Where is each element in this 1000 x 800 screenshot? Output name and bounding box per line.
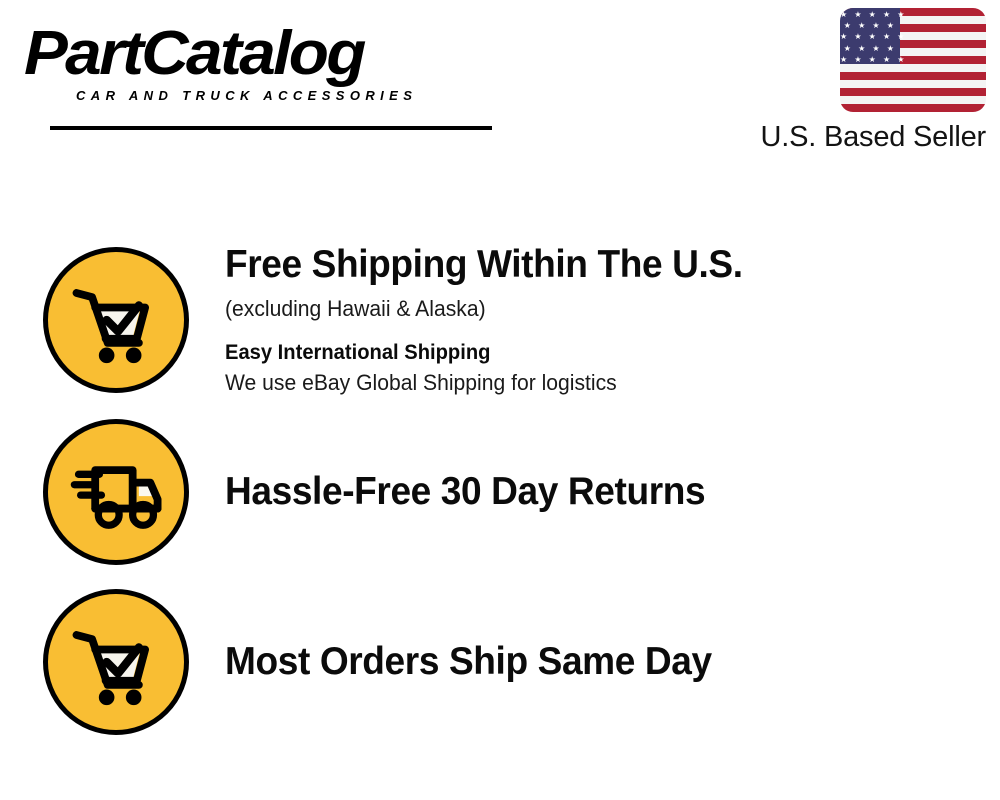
- brand-underline-rule: [50, 126, 492, 130]
- brand-tagline: CAR AND TRUCK ACCESSORIES: [76, 88, 494, 103]
- shopping-cart-check-icon: [43, 247, 189, 393]
- feature-heading: Hassle-Free 30 Day Returns: [225, 469, 942, 515]
- feature-note-ebay-global-shipping: We use eBay Global Shipping for logistic…: [225, 368, 950, 397]
- brand-logo[interactable]: PartCatalog CAR AND TRUCK ACCESSORIES: [24, 22, 494, 103]
- promo-banner: PartCatalog CAR AND TRUCK ACCESSORIES ★ …: [0, 0, 1000, 800]
- delivery-truck-icon: [43, 419, 189, 565]
- banner-header: PartCatalog CAR AND TRUCK ACCESSORIES ★ …: [0, 0, 1000, 170]
- feature-text-returns: Hassle-Free 30 Day Returns: [225, 469, 1000, 515]
- feature-row-free-shipping: Free Shipping Within The U.S. (excluding…: [0, 232, 1000, 407]
- feature-subtext: (excluding Hawaii & Alaska): [225, 295, 950, 323]
- feature-text-free-shipping: Free Shipping Within The U.S. (excluding…: [225, 242, 1000, 397]
- flag-stars: ★ ★ ★ ★ ★ ★ ★ ★ ★ ★ ★ ★ ★ ★ ★ ★ ★ ★ ★ ★ …: [840, 8, 900, 64]
- feature-row-returns: Hassle-Free 30 Day Returns: [0, 407, 1000, 577]
- us-flag-icon: ★ ★ ★ ★ ★ ★ ★ ★ ★ ★ ★ ★ ★ ★ ★ ★ ★ ★ ★ ★ …: [840, 8, 986, 112]
- feature-list: Free Shipping Within The U.S. (excluding…: [0, 232, 1000, 747]
- shopping-cart-check-icon: [43, 589, 189, 735]
- feature-heading: Free Shipping Within The U.S.: [225, 242, 942, 288]
- us-based-seller-label: U.S. Based Seller: [716, 120, 986, 154]
- feature-subheading-international: Easy International Shipping: [225, 339, 950, 366]
- brand-wordmark: PartCatalog: [24, 22, 522, 86]
- us-based-seller-badge: ★ ★ ★ ★ ★ ★ ★ ★ ★ ★ ★ ★ ★ ★ ★ ★ ★ ★ ★ ★ …: [716, 8, 986, 154]
- feature-row-same-day-shipping: Most Orders Ship Same Day: [0, 577, 1000, 747]
- feature-text-same-day-shipping: Most Orders Ship Same Day: [225, 639, 1000, 685]
- feature-heading: Most Orders Ship Same Day: [225, 639, 942, 685]
